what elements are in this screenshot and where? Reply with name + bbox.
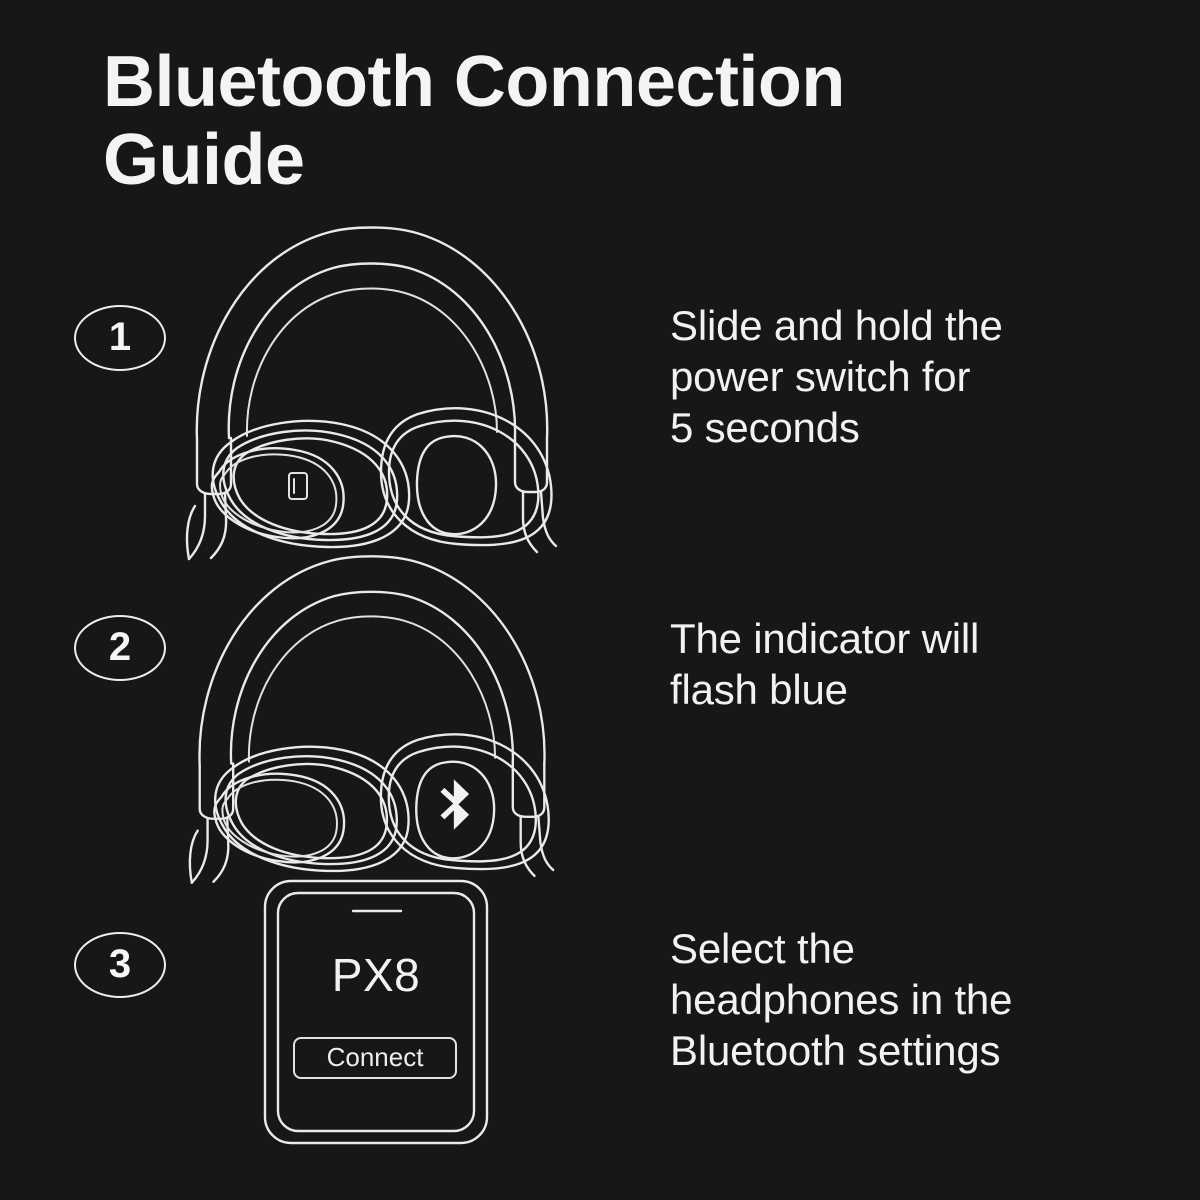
step-1-description: Slide and hold the power switch for 5 se… bbox=[670, 300, 1140, 454]
step-3-row: 3 PX8 Connect Select the headphones in t… bbox=[0, 875, 1200, 1175]
phone-connect-button[interactable]: Connect bbox=[294, 1038, 456, 1078]
step-1-row: 1 bbox=[0, 200, 1200, 545]
step-number-label: 3 bbox=[74, 932, 166, 998]
step-number-label: 2 bbox=[74, 615, 166, 681]
step-number-label: 1 bbox=[74, 305, 166, 371]
step-2-row: 2 bbox=[0, 545, 1200, 875]
phone-outer-body bbox=[265, 881, 487, 1143]
phone-bluetooth-settings-illustration: PX8 Connect bbox=[258, 875, 498, 1150]
page-title: Bluetooth Connection Guide bbox=[103, 44, 1103, 200]
headphones-power-switch-illustration bbox=[185, 218, 560, 543]
step-2-description: The indicator will flash blue bbox=[670, 613, 1140, 715]
step-2-badge: 2 bbox=[74, 615, 166, 681]
step-3-badge: 3 bbox=[74, 932, 166, 998]
headphones-bluetooth-indicator-illustration bbox=[185, 547, 560, 867]
phone-model-label: PX8 bbox=[332, 949, 420, 1001]
phone-screen-bezel bbox=[278, 893, 474, 1131]
bluetooth-icon bbox=[440, 779, 469, 829]
step-3-description: Select the headphones in the Bluetooth s… bbox=[670, 923, 1140, 1077]
bluetooth-connection-guide-page: Bluetooth Connection Guide 1 bbox=[0, 0, 1200, 1200]
power-switch-icon bbox=[289, 473, 307, 499]
step-1-badge: 1 bbox=[74, 305, 166, 371]
phone-connect-button-label: Connect bbox=[327, 1042, 425, 1072]
